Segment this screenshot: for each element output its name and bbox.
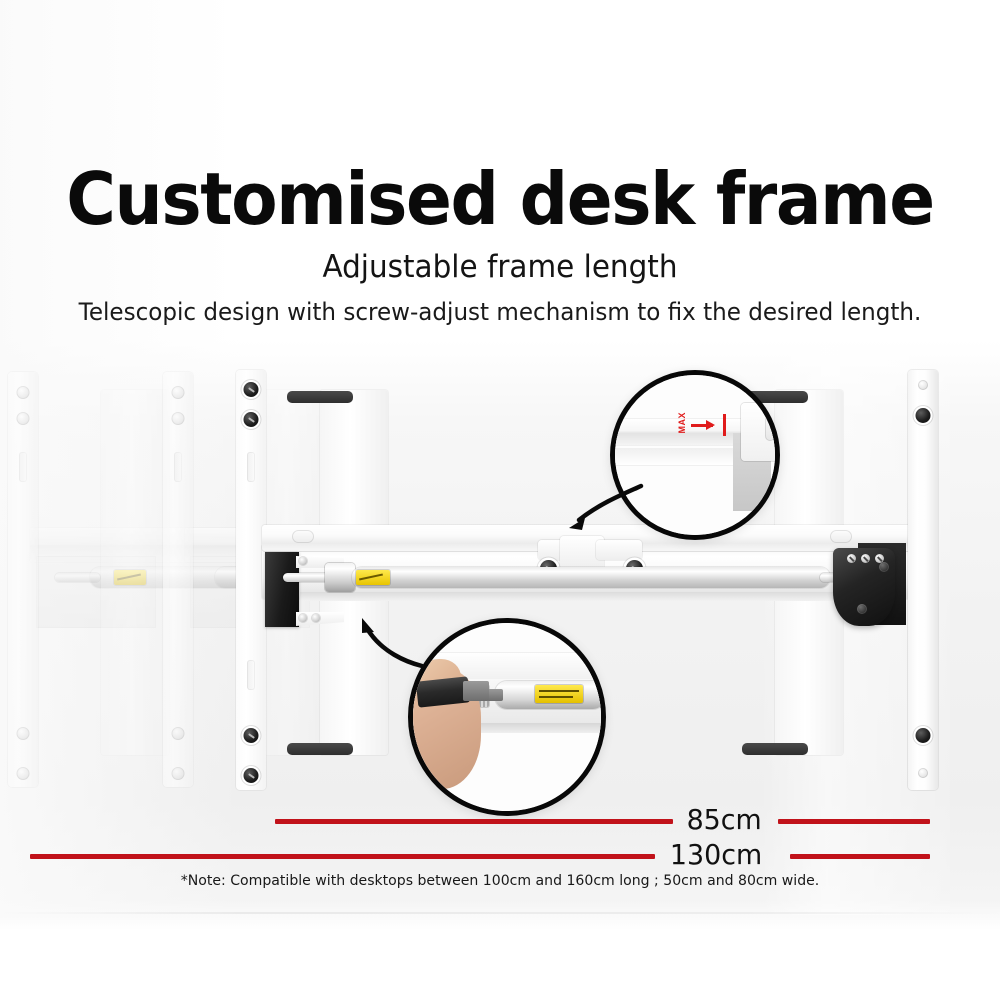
dimension-line-85-right (778, 819, 930, 824)
right-bracket-bolt-top (916, 408, 931, 423)
dimension-line-130-left (30, 854, 655, 859)
beam-cap-left (292, 530, 314, 543)
adjustment-nut (325, 563, 355, 592)
right-bracket-bolt-bottom (916, 728, 931, 743)
left-motor-mount-block (265, 552, 299, 627)
callout-bottom-arrow-icon (348, 612, 428, 674)
inner-rod-shaft (283, 573, 329, 582)
max-stop-line (723, 414, 726, 436)
telescopic-rod (352, 567, 830, 588)
callout-screw-adjust (408, 618, 606, 816)
left-mount-screw-top (299, 557, 307, 565)
left-mount-screw-bottom-2 (312, 614, 320, 622)
callout-top-arrow-icon (555, 478, 645, 538)
floor-shadow-line (0, 912, 1000, 914)
callout-warning-label (535, 685, 583, 703)
dimension-label-130: 130cm (670, 840, 762, 870)
beam-joint-right (596, 540, 642, 560)
left-mount-screw-bottom (299, 614, 307, 622)
max-arrow-icon (691, 424, 713, 427)
right-mounting-bracket (908, 370, 938, 790)
callout-end-slot (765, 415, 775, 441)
ghost-bracket-1 (8, 372, 38, 787)
tagline: Telescopic design with screw-adjust mech… (20, 298, 980, 326)
dimension-line-85-left (275, 819, 673, 824)
ghost-bracket-2 (163, 372, 193, 787)
left-foot-pad-top (287, 391, 353, 403)
ghost-rod-thin-1 (55, 573, 100, 582)
left-foot-pad-bottom (287, 743, 353, 755)
ghost-foot-plate-1 (101, 390, 169, 755)
dimension-row-85: 85cm (0, 808, 1000, 834)
allen-key-tip (463, 681, 489, 701)
dimension-row-130: 130cm (0, 843, 1000, 869)
page-title: Customised desk frame (30, 163, 970, 235)
right-bracket-hole-top (918, 380, 928, 390)
callout-screw-head (487, 689, 503, 701)
right-foot-pad-bottom (742, 743, 808, 755)
right-bracket-hole-bottom (918, 768, 928, 778)
callout-rail-lower (610, 449, 743, 465)
dimension-label-85: 85cm (687, 805, 762, 835)
dimension-line-130-right (790, 854, 930, 859)
rod-warning-label (356, 570, 390, 585)
max-text-label: MAX (678, 412, 687, 434)
product-photo: MAX (0, 360, 1000, 820)
beam-bottom-lip (300, 592, 900, 601)
subtitle: Adjustable frame length (25, 250, 975, 284)
product-feature-banner: Customised desk frame Adjustable frame l… (0, 0, 1000, 1000)
motor-gearbox (833, 548, 895, 626)
compatibility-note: *Note: Compatible with desktops between … (15, 872, 985, 890)
beam-cap-right (830, 530, 852, 543)
